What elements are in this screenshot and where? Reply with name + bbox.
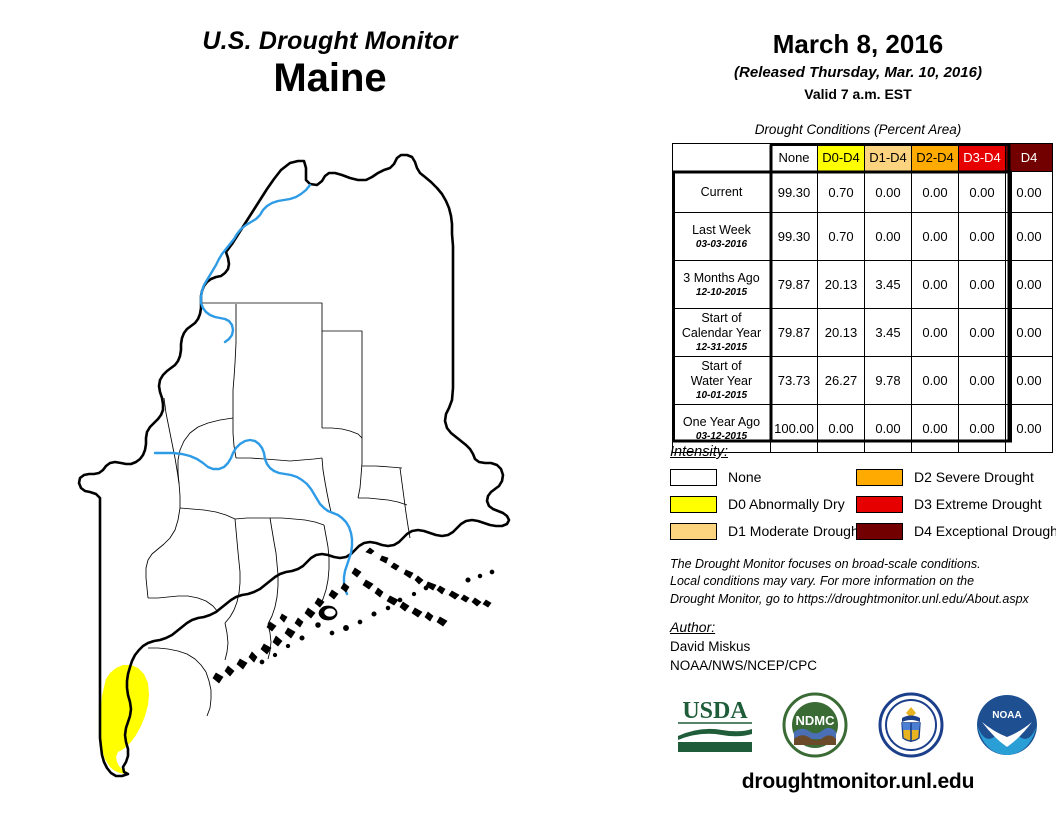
cell-d1d4-r0: 0.00	[865, 172, 912, 213]
cell-d2d4-r0: 0.00	[912, 172, 959, 213]
disclaimer-text: The Drought Monitor focuses on broad-sca…	[670, 556, 1056, 608]
table-body: Current99.300.700.000.000.000.00Last Wee…	[673, 172, 1053, 453]
cell-d4-r3: 0.00	[1006, 309, 1053, 357]
legend-swatch	[856, 496, 903, 513]
author-block: Author: David Miskus NOAA/NWS/NCEP/CPC	[670, 619, 1056, 675]
table-header: None D0-D4 D1-D4 D2-D4 D3-D4 D4	[673, 144, 1053, 172]
cell-d0d4-r1: 0.70	[818, 213, 865, 261]
cell-d0d4-r4: 26.27	[818, 357, 865, 405]
legend-label: D3 Extreme Drought	[914, 496, 1042, 512]
table-row: Current99.300.700.000.000.000.00	[673, 172, 1053, 213]
col-header-d3d4: D3-D4	[959, 144, 1006, 172]
cell-d2d4-r2: 0.00	[912, 261, 959, 309]
cell-d3d4-r0: 0.00	[959, 172, 1006, 213]
cell-d0d4-r0: 0.70	[818, 172, 865, 213]
legend-swatch	[670, 523, 717, 540]
cell-none-r4: 73.73	[771, 357, 818, 405]
svg-text:NOAA: NOAA	[992, 710, 1021, 721]
legend-label: None	[728, 469, 761, 485]
col-header-d1d4: D1-D4	[865, 144, 912, 172]
cell-d1d4-r2: 3.45	[865, 261, 912, 309]
legend-swatch	[670, 496, 717, 513]
cell-d3d4-r1: 0.00	[959, 213, 1006, 261]
cell-d3d4-r3: 0.00	[959, 309, 1006, 357]
cell-none-r1: 99.30	[771, 213, 818, 261]
author-heading: Author:	[670, 619, 1056, 635]
cell-d3d4-r2: 0.00	[959, 261, 1006, 309]
legend-swatch	[856, 469, 903, 486]
legend-swatch	[856, 523, 903, 540]
title-block: U.S. Drought Monitor Maine	[0, 28, 660, 101]
cell-d0d4-r2: 20.13	[818, 261, 865, 309]
legend-item-d3: D3 Extreme Drought	[856, 494, 1042, 514]
legend-item-d0: D0 Abnormally Dry	[670, 494, 845, 514]
cell-none-r3: 79.87	[771, 309, 818, 357]
legend-item-d1: D1 Moderate Drought	[670, 521, 863, 541]
author-organization: NOAA/NWS/NCEP/CPC	[670, 657, 1056, 676]
cell-none-r2: 79.87	[771, 261, 818, 309]
table-row: 3 Months Ago12-10-201579.8720.133.450.00…	[673, 261, 1053, 309]
intensity-heading: Intensity:	[670, 444, 1056, 460]
usda-logo: USDA	[672, 696, 758, 754]
coastal-islands	[213, 548, 494, 683]
drought-conditions-table: None D0-D4 D1-D4 D2-D4 D3-D4 D4 Current9…	[672, 143, 1053, 453]
table-row: Start ofWater Year10-01-201573.7326.279.…	[673, 357, 1053, 405]
legend-label: D0 Abnormally Dry	[728, 496, 845, 512]
svg-text:USDA: USDA	[682, 698, 748, 724]
cell-d1d4-r3: 3.45	[865, 309, 912, 357]
intensity-legend: Intensity: NoneD0 Abnormally DryD1 Moder…	[670, 444, 1056, 545]
legend-item-d4: D4 Exceptional Drought	[856, 521, 1056, 541]
cell-d4-r0: 0.00	[1006, 172, 1053, 213]
disclaimer-line-3: Drought Monitor, go to https://droughtmo…	[670, 591, 1056, 608]
col-header-d4: D4	[1006, 144, 1053, 172]
drought-area-d0	[100, 665, 149, 774]
disclaimer-line-2: Local conditions may vary. For more info…	[670, 573, 1056, 590]
cell-d2d4-r1: 0.00	[912, 213, 959, 261]
row-date: 03-03-2016	[673, 239, 770, 251]
col-header-d2d4: D2-D4	[912, 144, 959, 172]
cell-d3d4-r4: 0.00	[959, 357, 1006, 405]
valid-time: Valid 7 a.m. EST	[660, 86, 1056, 102]
cell-d0d4-r3: 20.13	[818, 309, 865, 357]
date-block: March 8, 2016 (Released Thursday, Mar. 1…	[660, 30, 1056, 102]
cell-d4-r2: 0.00	[1006, 261, 1053, 309]
table-corner-cell	[673, 144, 771, 172]
map-panel: U.S. Drought Monitor Maine	[0, 0, 660, 816]
table-row: Last Week03-03-201699.300.700.000.000.00…	[673, 213, 1053, 261]
cell-d4-r4: 0.00	[1006, 357, 1053, 405]
row-label: 3 Months Ago12-10-2015	[673, 261, 771, 309]
disclaimer-line-1: The Drought Monitor focuses on broad-sca…	[670, 556, 1056, 573]
row-date: 12-31-2015	[673, 342, 770, 354]
row-label: Start ofCalendar Year12-31-2015	[673, 309, 771, 357]
cell-d1d4-r1: 0.00	[865, 213, 912, 261]
row-date: 10-01-2015	[673, 390, 770, 402]
logo-row: USDA NDMC NOAA	[660, 686, 1056, 766]
legend-item-d2: D2 Severe Drought	[856, 467, 1034, 487]
table-caption: Drought Conditions (Percent Area)	[660, 122, 1056, 137]
row-label: Start ofWater Year10-01-2015	[673, 357, 771, 405]
ndmc-logo: NDMC	[782, 692, 848, 758]
author-name: David Miskus	[670, 638, 1056, 657]
state-title: Maine	[0, 56, 660, 101]
cell-d2d4-r4: 0.00	[912, 357, 959, 405]
county-boundaries	[146, 303, 410, 716]
legend-label: D2 Severe Drought	[914, 469, 1034, 485]
site-url[interactable]: droughtmonitor.unl.edu	[660, 770, 1056, 794]
row-date: 12-10-2015	[673, 287, 770, 299]
legend-grid: NoneD0 Abnormally DryD1 Moderate Drought…	[670, 467, 1056, 545]
maine-drought-map[interactable]	[70, 128, 590, 788]
table-header-row: None D0-D4 D1-D4 D2-D4 D3-D4 D4	[673, 144, 1053, 172]
river-lines	[155, 185, 352, 594]
noaa-logo: NOAA	[974, 692, 1040, 758]
cell-d4-r1: 0.00	[1006, 213, 1053, 261]
program-title: U.S. Drought Monitor	[0, 28, 660, 54]
legend-label: D4 Exceptional Drought	[914, 523, 1056, 539]
cell-none-r0: 99.30	[771, 172, 818, 213]
usdc-seal-logo	[878, 692, 944, 758]
info-panel: March 8, 2016 (Released Thursday, Mar. 1…	[660, 0, 1056, 816]
svg-text:NDMC: NDMC	[796, 713, 836, 728]
legend-item-none: None	[670, 467, 761, 487]
col-header-d0d4: D0-D4	[818, 144, 865, 172]
row-date: 03-12-2015	[673, 431, 770, 443]
legend-label: D1 Moderate Drought	[728, 523, 863, 539]
table-row: Start ofCalendar Year12-31-201579.8720.1…	[673, 309, 1053, 357]
col-header-none: None	[771, 144, 818, 172]
released-date: (Released Thursday, Mar. 10, 2016)	[660, 64, 1056, 81]
maine-map-svg[interactable]	[70, 128, 590, 788]
row-label: Current	[673, 172, 771, 213]
row-label: Last Week03-03-2016	[673, 213, 771, 261]
valid-date: March 8, 2016	[660, 30, 1056, 60]
legend-swatch	[670, 469, 717, 486]
cell-d1d4-r4: 9.78	[865, 357, 912, 405]
cell-d2d4-r3: 0.00	[912, 309, 959, 357]
